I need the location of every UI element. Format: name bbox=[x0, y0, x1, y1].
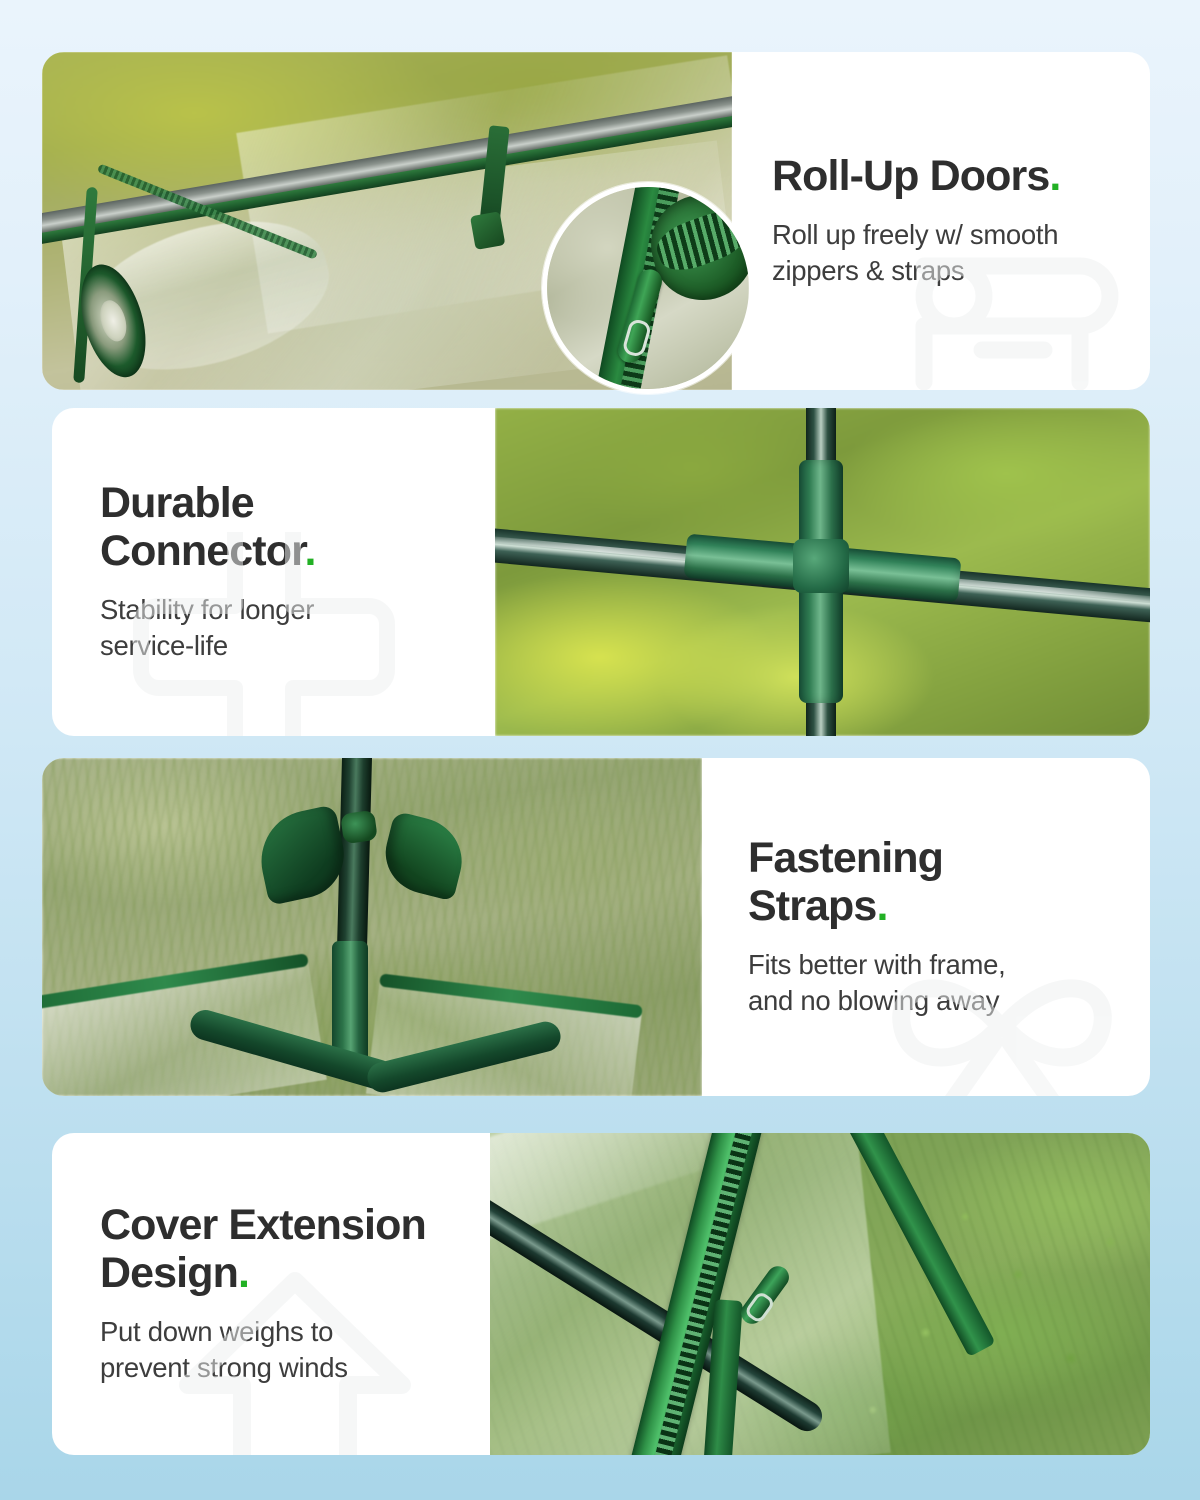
feature-title-cover-extension-design: Cover Extension Design. bbox=[100, 1202, 466, 1297]
feature-image-durable-connector bbox=[495, 408, 1150, 736]
title-line-1: Cover Extension bbox=[100, 1201, 426, 1249]
feature-image-cover-extension-design bbox=[490, 1133, 1150, 1455]
description-line-2: zippers & straps bbox=[772, 255, 964, 286]
feature-title-fastening-straps: Fastening Straps. bbox=[748, 835, 1122, 930]
feature-card-fastening-straps: Fastening Straps. Fits better with frame… bbox=[42, 758, 1150, 1096]
feature-title-roll-up-doors: Roll-Up Doors. bbox=[772, 153, 1120, 200]
description-line-1: Roll up freely w/ smooth bbox=[772, 219, 1058, 250]
feature-description-fastening-straps: Fits better with frame, and no blowing a… bbox=[748, 947, 1122, 1019]
title-line-1: Fastening bbox=[748, 834, 943, 882]
accent-dot: . bbox=[238, 1249, 249, 1297]
description-line-1: Put down weighs to bbox=[100, 1316, 333, 1347]
title-line-2: Connector bbox=[100, 527, 305, 575]
feature-text-roll-up-doors: Roll-Up Doors. Roll up freely w/ smooth … bbox=[732, 52, 1150, 390]
description-line-2: and no blowing away bbox=[748, 985, 999, 1016]
accent-dot: . bbox=[1049, 152, 1060, 200]
title-line-2: Design bbox=[100, 1249, 238, 1297]
accent-dot: . bbox=[305, 527, 316, 575]
title-line-1: Durable bbox=[100, 479, 254, 527]
feature-description-roll-up-doors: Roll up freely w/ smooth zippers & strap… bbox=[772, 217, 1120, 289]
feature-card-cover-extension-design: Cover Extension Design. Put down weighs … bbox=[52, 1133, 1150, 1455]
feature-card-durable-connector: Durable Connector. Stability for longer … bbox=[52, 408, 1150, 736]
description-line-1: Stability for longer bbox=[100, 594, 314, 625]
zipper-detail-inset bbox=[542, 182, 754, 394]
description-line-1: Fits better with frame, bbox=[748, 949, 1005, 980]
accent-dot: . bbox=[876, 882, 887, 930]
feature-text-durable-connector: Durable Connector. Stability for longer … bbox=[52, 408, 495, 736]
description-line-2: prevent strong winds bbox=[100, 1352, 348, 1383]
feature-text-cover-extension-design: Cover Extension Design. Put down weighs … bbox=[52, 1133, 490, 1455]
title-line-2: Straps bbox=[748, 882, 876, 930]
description-line-2: service-life bbox=[100, 630, 228, 661]
feature-text-fastening-straps: Fastening Straps. Fits better with frame… bbox=[702, 758, 1150, 1096]
feature-description-durable-connector: Stability for longer service-life bbox=[100, 592, 471, 664]
feature-description-cover-extension-design: Put down weighs to prevent strong winds bbox=[100, 1314, 466, 1386]
feature-image-fastening-straps bbox=[42, 758, 702, 1096]
title-text: Roll-Up Doors bbox=[772, 152, 1049, 200]
feature-title-durable-connector: Durable Connector. bbox=[100, 480, 471, 575]
